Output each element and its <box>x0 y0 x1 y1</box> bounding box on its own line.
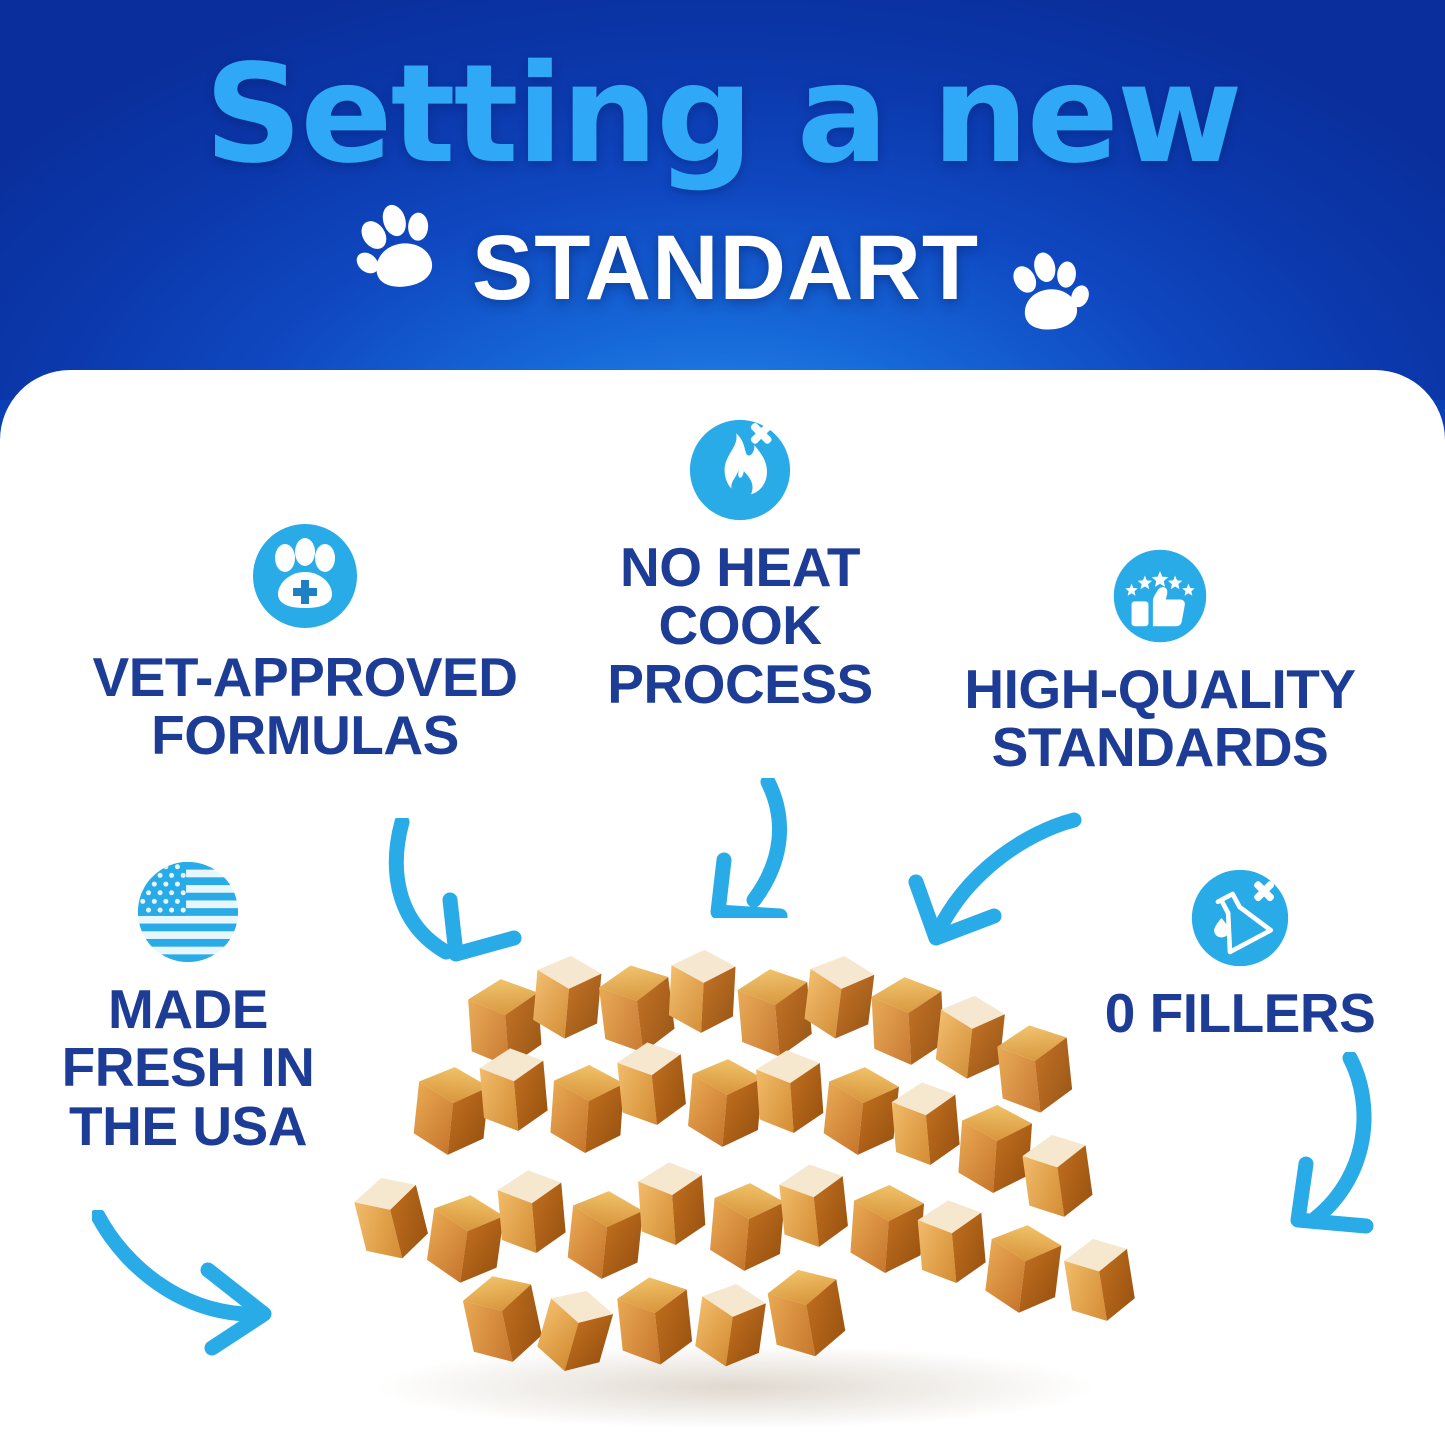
hero-subtitle-row: STANDART <box>0 204 1445 347</box>
feature-label: MADE FRESH IN THE USA <box>62 980 315 1155</box>
paw-medical-cross-icon <box>251 522 359 630</box>
thumbs-up-stars-icon <box>1112 548 1208 644</box>
feature-no-heat: NO HEAT COOK PROCESS <box>555 418 925 713</box>
feature-label: HIGH-QUALITY STANDARDS <box>964 660 1355 777</box>
feature-high-quality: HIGH-QUALITY STANDARDS <box>925 548 1395 777</box>
feature-label: NO HEAT COOK PROCESS <box>607 538 872 713</box>
freeze-dried-meat-cubes-image <box>320 935 1150 1435</box>
curved-arrow-down-icon <box>696 778 836 918</box>
flask-no-fillers-icon <box>1190 868 1290 968</box>
curved-arrow-down-left-icon <box>1274 1052 1434 1267</box>
flame-no-heat-icon <box>688 418 792 522</box>
curved-arrow-right-icon <box>92 1210 287 1360</box>
hero-subtitle: STANDART <box>472 222 979 314</box>
curved-arrow-down-right-icon <box>350 818 540 988</box>
feature-made-in-usa: MADE FRESH IN THE USA <box>38 860 338 1155</box>
feature-vet-approved: VET-APPROVED FORMULAS <box>55 522 555 765</box>
feature-label: VET-APPROVED FORMULAS <box>93 648 518 765</box>
curved-arrow-down-left-icon <box>898 796 1088 966</box>
paw-print-icon <box>354 204 446 305</box>
hero-banner: Setting a new STANDART <box>0 0 1445 400</box>
paw-print-icon <box>1005 252 1091 347</box>
feature-zero-fillers: 0 FILLERS <box>1085 868 1395 1042</box>
infographic-root: Setting a new STANDART <box>0 0 1445 1445</box>
page-title: Setting a new <box>0 46 1445 185</box>
usa-flag-circle-icon <box>136 860 240 964</box>
feature-label: 0 FILLERS <box>1105 984 1376 1042</box>
